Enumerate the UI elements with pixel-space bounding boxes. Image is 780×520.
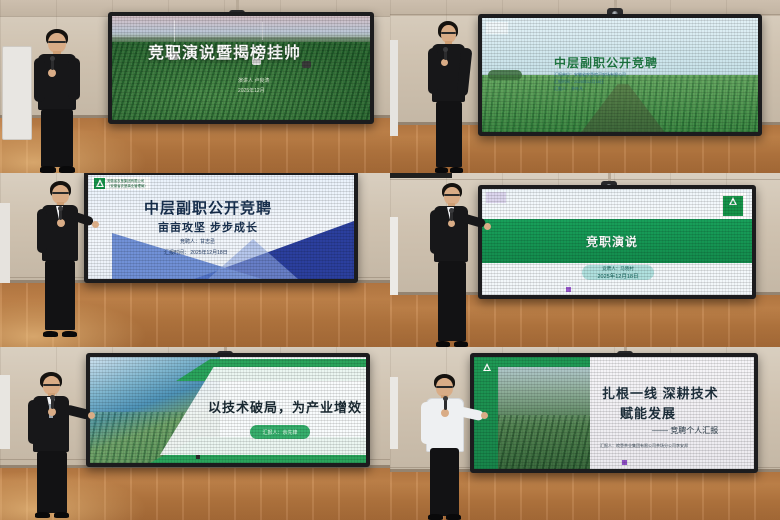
slide-corner-block	[486, 192, 506, 203]
legs	[37, 451, 67, 513]
sky	[112, 16, 370, 39]
photo-panel-1[interactable]: 竞职演说暨揭榜挂帅 演讲人 卢良涛 2025年12月	[0, 0, 390, 173]
arm-left	[428, 48, 438, 94]
logo-mark-icon	[723, 196, 743, 216]
photo-panel-4[interactable]: 竞职演说 竞聘人：马晓村 2025年12月18日	[390, 173, 780, 347]
slide-title: 竞职演说	[586, 233, 638, 250]
wall-fixture	[0, 203, 10, 283]
led-screen-2[interactable]: 中层副职公开竞聘 汇报单位：安徽省农垦皖河农场有限公司 汇报时间：2025年12…	[478, 14, 762, 136]
presenter-pill[interactable]: 汇报人：余先锋	[250, 425, 310, 439]
photo-grid: 竞职演说暨揭榜挂帅 演讲人 卢良涛 2025年12月	[0, 0, 780, 520]
microphone-icon	[51, 59, 54, 70]
slide-accent-dot	[622, 460, 627, 465]
legs	[430, 448, 459, 516]
microphone-icon	[51, 398, 54, 409]
led-screen-1[interactable]: 竞职演说暨揭榜挂帅 演讲人 卢良涛 2025年12月	[108, 12, 374, 124]
shoe-left	[35, 512, 50, 518]
slide-5: 以技术破局，为产业增效 汇报人：余先锋	[90, 357, 366, 463]
whiteboard	[2, 46, 32, 140]
hand-gesture	[88, 412, 95, 419]
wall-fixture	[390, 40, 398, 136]
slide-title-line2: 赋能发展	[620, 403, 676, 422]
hand-gesture	[484, 223, 491, 230]
slide-6: 扎根一线 深耕技术 赋能发展 —— 竞聘个人汇报 汇报人：皖垦茶业集团有限公司茶…	[474, 357, 754, 469]
tree-cluster	[488, 70, 522, 80]
arm-left	[430, 210, 440, 254]
slide-unit-line: 汇报单位：安徽省农垦皖河农场有限公司	[554, 72, 626, 78]
slide-candidate-line: 竞聘人：甘志丞	[180, 238, 215, 245]
wind-turbine-icon	[262, 22, 263, 40]
slide-title: 竞职演说暨揭榜挂帅	[148, 39, 301, 63]
logo-mark-icon	[94, 178, 105, 189]
company-logo: 安徽省农垦集团有限公司 （安徽省农垦事业管理局）	[92, 177, 150, 190]
slide-title: 中层副职公开竞聘	[144, 197, 272, 218]
photo-panel-3[interactable]: 安徽省农垦集团有限公司 （安徽省农垦事业管理局） 中层副职公开竞聘 亩亩攻坚 步…	[0, 173, 390, 347]
legs	[436, 101, 462, 167]
hand-gesture	[92, 221, 99, 228]
speaker-person-4	[430, 173, 480, 347]
arm-left	[28, 400, 39, 444]
slide-date-line: 2025年12月18日	[598, 272, 639, 280]
logo-mark-icon	[478, 362, 496, 380]
wall-fixture	[390, 377, 398, 449]
field-texture	[498, 415, 590, 469]
glasses-icon	[52, 192, 69, 194]
hand-gesture	[481, 412, 488, 419]
green-top-strip	[498, 357, 590, 367]
slide-accent-dot	[196, 455, 200, 459]
arm-left	[421, 402, 432, 444]
shoe-left	[428, 514, 443, 520]
slide-footer-line: 汇报人：皖垦茶业集团有限公司茶场分公司李安邦	[600, 443, 688, 449]
screenshot-stage: 竞职演说暨揭榜挂帅 演讲人 卢良涛 2025年12月	[0, 0, 780, 520]
shoe-left	[43, 331, 58, 337]
company-logo-text: 安徽省农垦集团有限公司 （安徽省农垦事业管理局）	[107, 179, 148, 188]
slide-date-line: 汇报时间： 2025年12月18日	[164, 249, 228, 256]
shoe-right	[59, 166, 75, 173]
wall-fixture	[390, 217, 398, 295]
microphone-icon	[444, 399, 447, 410]
head	[48, 33, 66, 53]
slide-presenter-line: 汇报人： 孙叶凡	[554, 86, 583, 92]
arm-right	[68, 58, 80, 100]
led-screen-6[interactable]: 扎根一线 深耕技术 赋能发展 —— 竞聘个人汇报 汇报人：皖垦茶业集团有限公司茶…	[470, 353, 758, 473]
slide-title-line1: 扎根一线 深耕技术	[602, 383, 719, 402]
slide-title: 中层副职公开竞聘	[554, 54, 658, 71]
microphone-icon	[59, 209, 62, 220]
field-worker	[302, 61, 311, 68]
slide-accent-dot	[566, 287, 571, 292]
speaker-person-6	[420, 352, 474, 520]
wall-fixture	[0, 375, 10, 449]
glasses-icon	[436, 386, 453, 388]
led-screen-3[interactable]: 安徽省农垦集团有限公司 （安徽省农垦事业管理局） 中层副职公开竞聘 亩亩攻坚 步…	[84, 173, 358, 283]
legs	[41, 109, 73, 167]
speaker-person-3	[36, 177, 90, 337]
glasses-icon	[43, 384, 60, 386]
speaker-person-1	[30, 25, 84, 173]
shoe-left	[40, 166, 56, 173]
hand	[441, 59, 448, 66]
shoe-right	[62, 331, 77, 337]
shoe-right	[446, 514, 461, 520]
hand	[448, 220, 455, 227]
shoe-right	[54, 512, 69, 518]
led-screen-5[interactable]: 以技术破局，为产业增效 汇报人：余先锋	[86, 353, 370, 467]
company-logo	[720, 193, 746, 219]
slide-dash-line: —— 竞聘个人汇报	[652, 425, 718, 436]
slide-title: 以技术破局，为产业增效	[208, 397, 362, 416]
microphone-icon	[450, 211, 453, 221]
led-screen-4[interactable]: 竞职演说 竞聘人：马晓村 2025年12月18日	[478, 185, 756, 299]
slide-1: 竞职演说暨揭榜挂帅 演讲人 卢良涛 2025年12月	[112, 16, 370, 120]
speaker-person-2	[426, 15, 474, 173]
hand	[48, 408, 56, 416]
photo-panel-6[interactable]: 扎根一线 深耕技术 赋能发展 —— 竞聘个人汇报 汇报人：皖垦茶业集团有限公司茶…	[390, 347, 780, 520]
arm-left	[37, 209, 47, 253]
slide-subtitle: 亩亩攻坚 步步成长	[158, 219, 258, 235]
company-logo	[476, 360, 498, 382]
presenter-label: 汇报人：余先锋	[262, 429, 297, 436]
legs	[45, 260, 75, 330]
slide-presenter-line: 演讲人 卢良涛	[238, 78, 269, 84]
speaker-person-5	[26, 356, 82, 518]
slide-4: 竞职演说 竞聘人：马晓村 2025年12月18日	[482, 189, 752, 295]
hand	[441, 409, 449, 417]
presenter-pill: 竞聘人：马晓村 2025年12月18日	[582, 265, 654, 280]
hand	[48, 69, 56, 77]
photo-panel-2[interactable]: 中层副职公开竞聘 汇报单位：安徽省农垦皖河农场有限公司 汇报时间：2025年12…	[390, 0, 780, 173]
glasses-icon	[444, 194, 460, 196]
slide-corner-block	[486, 22, 508, 34]
slide-date-line: 2025年12月	[238, 88, 265, 94]
legs	[438, 261, 466, 341]
slide-3: 安徽省农垦集团有限公司 （安徽省农垦事业管理局） 中层副职公开竞聘 亩亩攻坚 步…	[88, 175, 354, 279]
slide-2: 中层副职公开竞聘 汇报单位：安徽省农垦皖河农场有限公司 汇报时间：2025年12…	[482, 18, 758, 132]
glasses-icon	[48, 41, 66, 43]
slide-date-line: 汇报时间：2025年12月18日	[554, 79, 604, 85]
microphone-icon	[444, 50, 447, 60]
hand	[57, 219, 65, 227]
glasses-icon	[441, 32, 456, 34]
photo-panel-5[interactable]: 以技术破局，为产业增效 汇报人：余先锋	[0, 347, 390, 520]
arm-left	[34, 58, 45, 102]
